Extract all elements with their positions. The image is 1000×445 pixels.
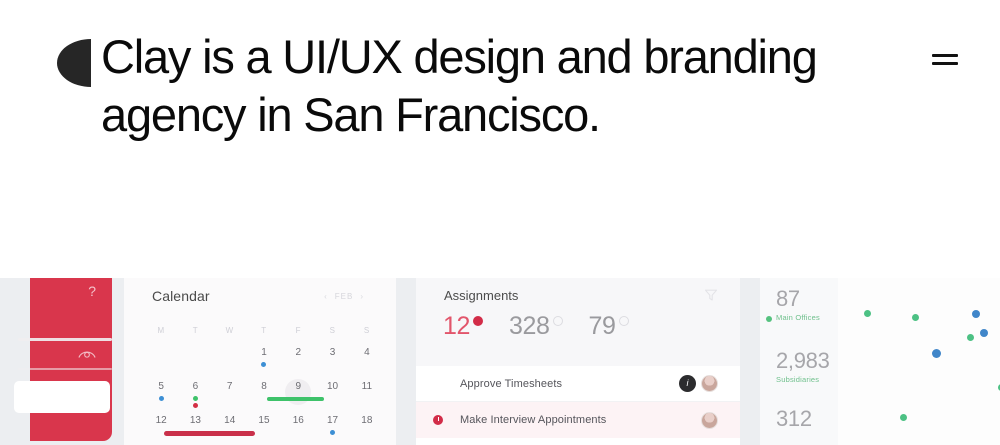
calendar-day-number: 12 — [144, 414, 178, 428]
calendar-day-number: 2 — [281, 346, 315, 360]
calendar-day-number: 16 — [281, 414, 315, 428]
calendar-day-number: 14 — [213, 414, 247, 428]
calendar-day-header: W — [213, 326, 247, 346]
assignment-avatars: i — [679, 375, 718, 392]
map-stat: 2,983Subsidiaries — [776, 348, 830, 384]
calendar-event-bar — [267, 397, 324, 401]
calendar-day-number: 10 — [315, 380, 349, 394]
hamburger-menu-icon[interactable] — [932, 50, 958, 68]
assignment-avatars — [701, 412, 718, 429]
calendar-event-dot — [193, 403, 198, 408]
page-title: Clay is a UI/UX design and branding agen… — [101, 28, 841, 144]
assignment-label: Make Interview Appointments — [460, 414, 606, 426]
calendar-day-number: 18 — [350, 414, 384, 428]
assignment-stats: 1232879 — [443, 312, 629, 340]
calendar-day-number: 7 — [213, 380, 247, 394]
calendar-day-cell[interactable]: 18 — [350, 414, 384, 445]
calendar-day-number: 13 — [178, 414, 212, 428]
calendar-day-header: T — [247, 326, 281, 346]
calendar-day-cell[interactable]: 15 — [247, 414, 281, 445]
calendar-day-cell[interactable]: 5 — [144, 380, 178, 414]
check-circle-icon — [553, 316, 563, 326]
map-panel: 87Main Offices2,983Subsidiaries312 — [760, 278, 1000, 445]
avatar[interactable] — [701, 375, 718, 392]
sidebar-action-button[interactable] — [14, 381, 110, 413]
calendar-panel: Calendar ‹ FEB › MTWTFSS1234567891011121… — [124, 278, 396, 445]
half-circle-logo-icon[interactable] — [57, 39, 91, 87]
calendar-event-dot — [261, 362, 266, 367]
assignments-summary: Assignments 1232879 — [416, 278, 740, 366]
map-stat-value: 312 — [776, 406, 812, 432]
calendar-day-cell[interactable]: 13 — [178, 414, 212, 445]
avatar[interactable] — [701, 412, 718, 429]
hero-section: Clay is a UI/UX design and branding agen… — [0, 0, 1000, 270]
eye-icon[interactable] — [78, 346, 96, 360]
map-stat-value: 87 — [776, 286, 820, 312]
calendar-day-cell[interactable]: 17 — [315, 414, 349, 445]
map-pin[interactable] — [912, 314, 919, 321]
assignment-stat-value: 79 — [589, 312, 616, 340]
calendar-event-dot — [159, 396, 164, 401]
calendar-day-cell[interactable]: 3 — [315, 346, 349, 380]
calendar-event-dot — [330, 430, 335, 435]
menu-line-2 — [932, 62, 958, 65]
map-pin[interactable] — [900, 414, 907, 421]
assignment-stat: 79 — [589, 312, 629, 340]
filter-funnel-icon[interactable] — [704, 288, 718, 302]
calendar-grid: MTWTFSS123456789101112131415161718192021… — [144, 326, 384, 445]
map-stat: 312 — [776, 406, 812, 432]
sidebar-divider-2 — [18, 368, 112, 370]
calendar-day-cell — [213, 346, 247, 380]
circle-icon — [619, 316, 629, 326]
calendar-month-label: FEB — [335, 292, 354, 301]
assignments-title: Assignments — [444, 288, 518, 303]
hero-headline-row: Clay is a UI/UX design and branding agen… — [57, 28, 957, 144]
calendar-day-cell[interactable]: 6 — [178, 380, 212, 414]
calendar-day-number: 15 — [247, 414, 281, 428]
info-badge-icon[interactable]: i — [679, 375, 696, 392]
assignments-panel: Assignments 1232879 Approve TimesheetsiM… — [416, 278, 740, 445]
calendar-day-cell[interactable]: 12 — [144, 414, 178, 445]
calendar-day-number: 1 — [247, 346, 281, 360]
calendar-day-header: F — [281, 326, 315, 346]
map-stat-label: Main Offices — [776, 313, 820, 322]
calendar-day-number: 3 — [315, 346, 349, 360]
sidebar-divider-1 — [18, 338, 112, 341]
map-pin[interactable] — [967, 334, 974, 341]
map-pin[interactable] — [972, 310, 980, 318]
calendar-header: Calendar ‹ FEB › — [152, 288, 386, 304]
calendar-day-number: 11 — [350, 380, 384, 394]
menu-line-1 — [932, 54, 958, 57]
calendar-day-number: 6 — [178, 380, 212, 394]
calendar-next-icon[interactable]: › — [360, 292, 364, 301]
calendar-day-number: 5 — [144, 380, 178, 394]
assignment-stat: 328 — [509, 312, 563, 340]
clock-solid-icon — [473, 316, 483, 326]
calendar-navigation: ‹ FEB › — [324, 292, 386, 301]
calendar-day-number: 8 — [247, 380, 281, 394]
calendar-day-cell[interactable]: 1 — [247, 346, 281, 380]
map-stat: 87Main Offices — [776, 286, 820, 322]
calendar-prev-icon[interactable]: ‹ — [324, 292, 328, 301]
calendar-day-cell — [144, 346, 178, 380]
calendar-day-cell[interactable]: 16 — [281, 414, 315, 445]
calendar-day-cell[interactable]: 4 — [350, 346, 384, 380]
calendar-day-header: T — [178, 326, 212, 346]
dashboard-preview: ? Calendar ‹ FEB › MTWTFSS12345678910111… — [0, 278, 1000, 445]
map-stat-label: Subsidiaries — [776, 375, 830, 384]
calendar-event-dot — [193, 396, 198, 401]
calendar-day-cell[interactable]: 7 — [213, 380, 247, 414]
calendar-event-bar — [164, 431, 255, 436]
assignment-stat: 12 — [443, 312, 483, 340]
assignment-stat-value: 12 — [443, 312, 470, 340]
map-stat-value: 2,983 — [776, 348, 830, 374]
calendar-title: Calendar — [152, 288, 210, 304]
map-stat-dot — [766, 316, 772, 322]
calendar-day-cell[interactable]: 2 — [281, 346, 315, 380]
map-pin[interactable] — [980, 329, 988, 337]
assignment-status-marker — [416, 415, 460, 425]
assignment-row[interactable]: Approve Timesheetsi — [416, 366, 740, 402]
sidebar-card: ? — [30, 278, 112, 441]
assignment-row[interactable]: Make Interview Appointments — [416, 402, 740, 438]
help-icon[interactable]: ? — [88, 284, 96, 298]
map-pin[interactable] — [932, 349, 941, 358]
calendar-day-number: 17 — [315, 414, 349, 428]
calendar-day-cell — [178, 346, 212, 380]
assignment-label: Approve Timesheets — [460, 378, 562, 390]
assignment-task-list: Approve TimesheetsiMake Interview Appoin… — [416, 366, 740, 438]
map-pin[interactable] — [864, 310, 871, 317]
calendar-day-cell[interactable]: 11 — [350, 380, 384, 414]
calendar-day-number: 4 — [350, 346, 384, 360]
calendar-day-header: S — [350, 326, 384, 346]
calendar-day-header: M — [144, 326, 178, 346]
overdue-clock-icon — [433, 415, 443, 425]
calendar-day-number: 9 — [281, 380, 315, 394]
calendar-day-cell[interactable]: 14 — [213, 414, 247, 445]
assignment-stat-value: 328 — [509, 312, 550, 340]
calendar-day-header: S — [315, 326, 349, 346]
